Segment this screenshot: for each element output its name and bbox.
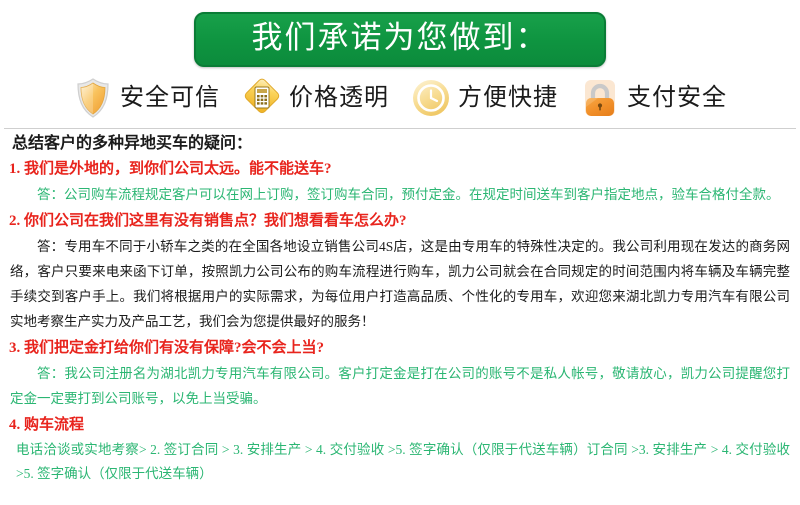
banner-region: 我们承诺为您做到：	[0, 0, 800, 67]
feature-item-security: 安全可信	[73, 77, 220, 119]
lock-icon	[580, 77, 620, 119]
faq-answer-1: 答：公司购车流程规定客户可以在网上订购，签订购车合同，预付定金。在规定时间送车到…	[6, 182, 794, 207]
faq-answer-2: 答：专用车不同于小轿车之类的在全国各地设立销售公司4S店，这是由专用车的特殊性决…	[6, 234, 794, 334]
feature-item-convenience: 方便快捷	[411, 77, 558, 119]
feature-item-price: 价格透明	[242, 77, 389, 119]
promise-banner: 我们承诺为您做到：	[194, 12, 606, 67]
purchase-flow-steps: 电话洽谈或实地考察> 2. 签订合同 > 3. 安排生产 > 4. 交付验收 >…	[6, 438, 794, 486]
shield-icon	[73, 77, 113, 119]
faq-content: 总结客户的多种异地买车的疑问： 1. 我们是外地的，到你们公司太远。能不能送车?…	[0, 129, 800, 486]
faq-answer-3: 答：我公司注册名为湖北凯力专用汽车有限公司。客户打定金是打在公司的账号不是私人帐…	[6, 361, 794, 411]
purchase-flow-title: 4. 购车流程	[6, 413, 794, 437]
faq-question-2: 2. 你们公司在我们这里有没有销售点？我们想看看车怎么办?	[6, 209, 794, 233]
feature-row: 安全可信 价格透	[0, 77, 800, 119]
faq-question-3: 3. 我们把定金打给你们有没有保障?会不会上当?	[6, 336, 794, 360]
feature-item-payment: 支付安全	[580, 77, 727, 119]
feature-label-security: 安全可信	[120, 83, 220, 113]
feature-label-convenience: 方便快捷	[458, 83, 558, 113]
calculator-icon	[242, 77, 282, 119]
banner-title: 我们承诺为您做到：	[222, 19, 578, 57]
feature-label-payment: 支付安全	[627, 83, 727, 113]
clock-icon	[411, 77, 451, 119]
feature-label-price: 价格透明	[289, 83, 389, 113]
page-title: 总结客户的多种异地买车的疑问：	[6, 132, 794, 155]
faq-question-1: 1. 我们是外地的，到你们公司太远。能不能送车?	[6, 157, 794, 181]
